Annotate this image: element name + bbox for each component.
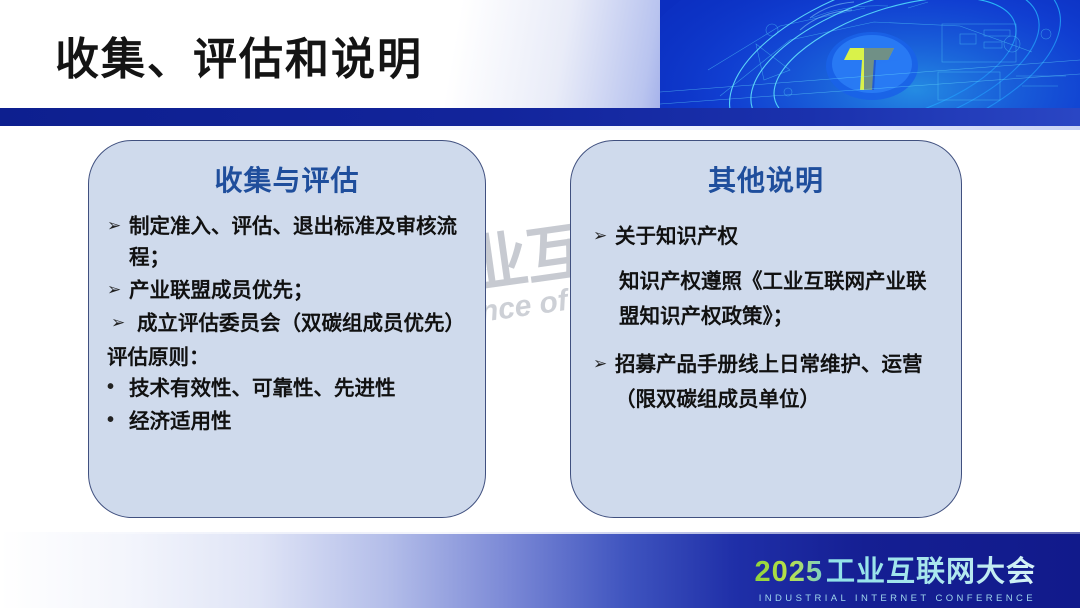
list-item-label: 关于知识产权 — [615, 221, 943, 252]
arrow-bullet-icon: ➢ — [107, 211, 129, 241]
list-item: • 技术有效性、可靠性、先进性 — [107, 373, 471, 404]
arrow-bullet-icon: ➢ — [593, 347, 615, 380]
list-item-label: 产业联盟成员优先； — [129, 275, 471, 306]
list-item-label: 知识产权遵照《工业互联网产业联盟知识产权政策》； — [593, 264, 943, 335]
logo-name-cn: 工业互联网大会 — [826, 548, 1036, 590]
header-accent-highlight — [0, 126, 1080, 130]
logo-year: 2025 — [754, 556, 823, 589]
list-item: ➢ 关于知识产权 — [593, 221, 943, 252]
dot-bullet-icon: • — [107, 406, 129, 435]
arrow-bullet-icon: ➢ — [107, 308, 137, 338]
arrow-bullet-icon: ➢ — [593, 221, 615, 251]
card-other-notes[interactable]: 其他说明 ➢ 关于知识产权 知识产权遵照《工业互联网产业联盟知识产权政策》； ➢… — [570, 140, 962, 518]
list-item-label: 成立评估委员会（双碳组成员优先） — [137, 308, 471, 339]
list-item-label: 技术有效性、可靠性、先进性 — [129, 373, 471, 404]
conference-logo: 2025 工业互联网大会 INDUSTRIAL INTERNET CONFERE… — [754, 548, 1036, 604]
list-item: ➢ 招募产品手册线上日常维护、运营（限双碳组成员单位） — [593, 347, 943, 418]
list-item: • 经济适用性 — [107, 406, 471, 437]
header-accent-band — [0, 108, 1080, 126]
dot-bullet-icon: • — [107, 373, 129, 402]
list-item: ➢ 制定准入、评估、退出标准及审核流程； — [107, 211, 471, 273]
list-subheading: 评估原则： — [107, 342, 471, 373]
card-title-other-notes: 其他说明 — [571, 159, 961, 199]
page-title: 收集、评估和说明 — [55, 36, 423, 84]
slide-root: 收集、评估和说明 工业互联网产业联盟 Alliance of Industria… — [0, 0, 1080, 608]
list-item-label: 招募产品手册线上日常维护、运营（限双碳组成员单位） — [615, 347, 943, 418]
list-item-label: 制定准入、评估、退出标准及审核流程； — [129, 211, 471, 273]
list-item: ➢ 成立评估委员会（双碳组成员优先） — [107, 308, 471, 339]
card-title-collection-evaluation: 收集与评估 — [89, 159, 485, 199]
card-body-collection-evaluation: ➢ 制定准入、评估、退出标准及审核流程； ➢ 产业联盟成员优先； ➢ 成立评估委… — [107, 211, 471, 439]
logo-name-en: INDUSTRIAL INTERNET CONFERENCE — [754, 593, 1036, 604]
card-collection-evaluation[interactable]: 收集与评估 ➢ 制定准入、评估、退出标准及审核流程； ➢ 产业联盟成员优先； ➢… — [88, 140, 486, 518]
arrow-bullet-icon: ➢ — [107, 275, 129, 305]
list-item: ➢ 产业联盟成员优先； — [107, 275, 471, 306]
header-tech-graphic — [660, 0, 1080, 108]
card-body-other-notes: ➢ 关于知识产权 知识产权遵照《工业互联网产业联盟知识产权政策》； ➢ 招募产品… — [593, 221, 943, 419]
list-item-label: 经济适用性 — [129, 406, 471, 437]
footer-divider — [0, 532, 1080, 534]
